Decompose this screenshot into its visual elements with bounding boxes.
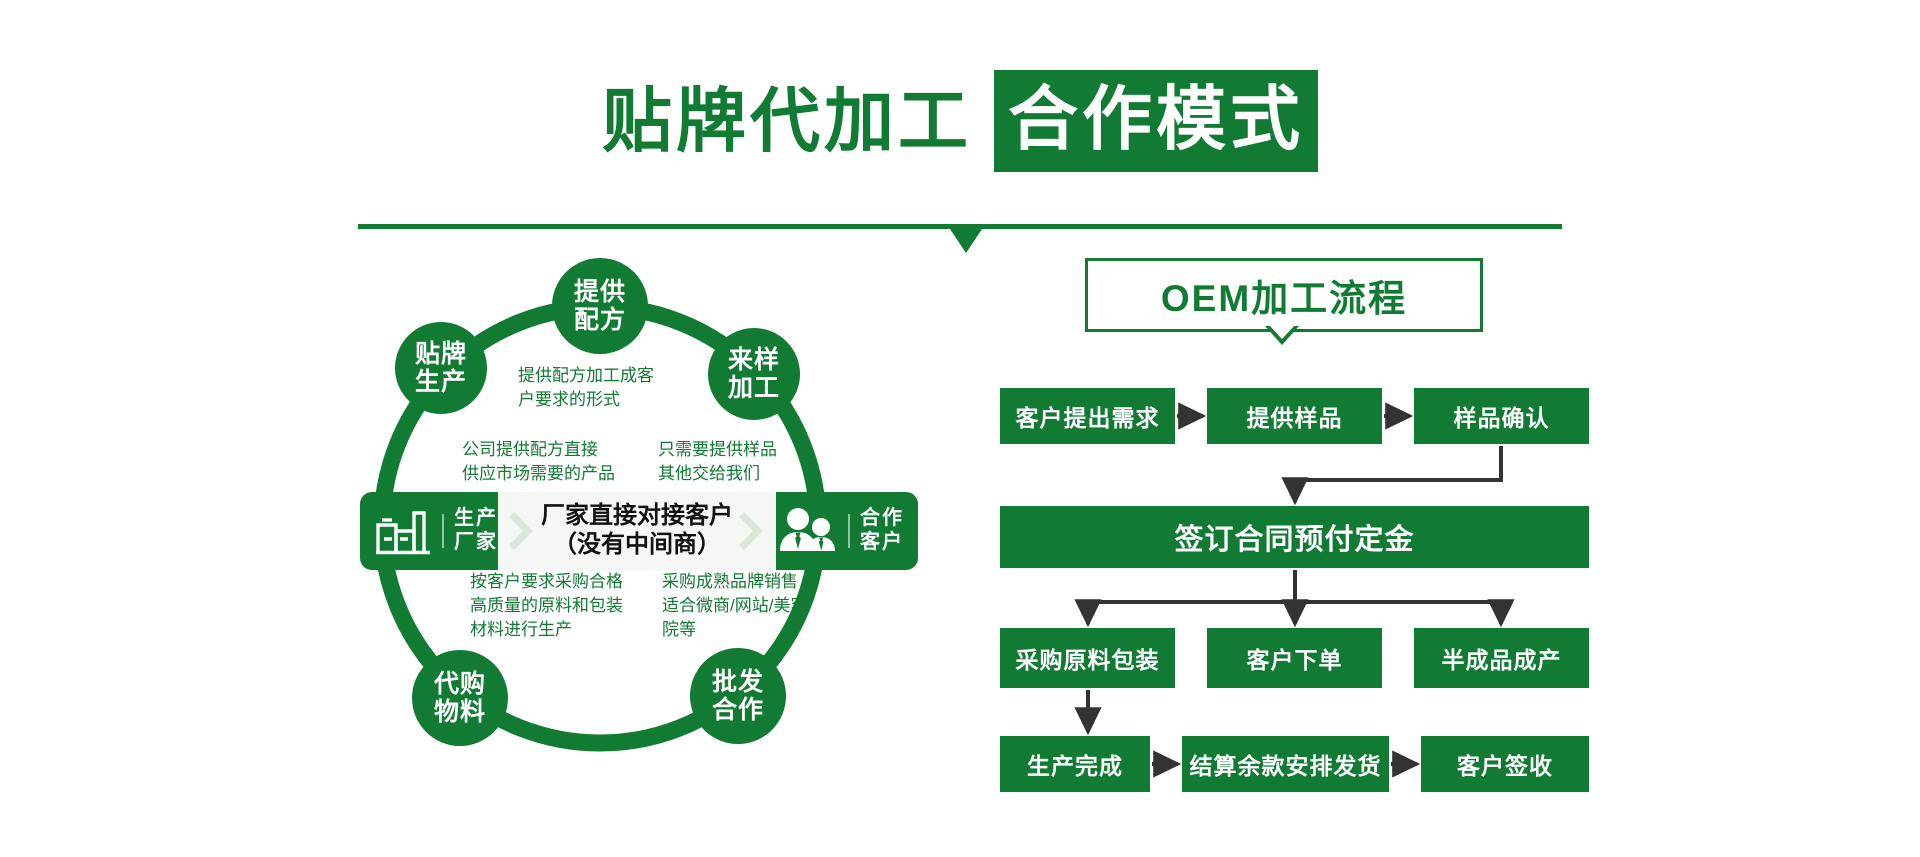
cycle-desc-daigou-wuliao: 按客户要求采购合格 高质量的原料和包装 材料进行生产 [470, 570, 623, 642]
title-main-text: 贴牌代加工 [602, 78, 972, 164]
cycle-node-daigou-wuliao[interactable]: 代购 物料 [412, 650, 508, 746]
node-line-2: 加工 [728, 374, 780, 402]
oem-flow-heading-text: OEM加工流程 [1161, 268, 1407, 322]
flow-step-semi-finished-production[interactable]: 半成品成产 [1414, 628, 1589, 688]
left-separator [442, 514, 444, 548]
flow-step-settle-balance-ship[interactable]: 结算余款安排发货 [1182, 736, 1389, 792]
cycle-node-tigong-peifang[interactable]: 提供 配方 [552, 258, 648, 354]
oem-flow-chart: OEM加工流程 [1000, 258, 1560, 818]
customer-label: 合作 客户 [860, 507, 904, 554]
producer-group: 生产 厂家 [360, 492, 498, 570]
infographic-root: 贴牌代加工 合作模式 贴牌 生产 提供 配方 来样 加工 代购 物料 批发 合作… [0, 0, 1920, 857]
flow-step-purchase-materials[interactable]: 采购原料包装 [1000, 628, 1175, 688]
header-divider-notch-icon [950, 229, 982, 253]
right-separator [848, 514, 850, 548]
cycle-desc-pifa-hezuo: 采购成熟品牌销售， 适合微商/网站/美容 院等 [662, 570, 815, 642]
node-line-2: 物料 [434, 698, 486, 726]
producer-label: 生产 厂家 [454, 507, 498, 554]
node-line-1: 批发 [712, 668, 764, 696]
flow-step-sign-contract-deposit[interactable]: 签订合同预付定金 [1000, 506, 1589, 568]
cycle-desc-tigong-peifang: 提供配方加工成客 户要求的形式 [518, 364, 654, 412]
cycle-node-tiepai-shengchan[interactable]: 贴牌 生产 [395, 322, 487, 414]
node-line-2: 配方 [574, 306, 626, 334]
direct-connection-callout: 厂家直接对接客户 （没有中间商） [498, 492, 776, 570]
direct-connection-bar: 生产 厂家 厂家直接对接客户 （没有中间商） [360, 492, 918, 570]
cycle-node-laiyang-jiagong[interactable]: 来样 加工 [708, 328, 800, 420]
oem-heading-notch-inner-icon [1268, 324, 1296, 339]
flow-step-customer-receipt[interactable]: 客户签收 [1421, 736, 1589, 792]
chevron-right-icon [509, 511, 535, 551]
oem-flow-heading-box: OEM加工流程 [1085, 258, 1483, 332]
node-line-1: 来样 [728, 346, 780, 374]
direct-connection-text: 厂家直接对接客户 （没有中间商） [541, 502, 733, 560]
flow-step-provide-sample[interactable]: 提供样品 [1207, 388, 1382, 444]
node-line-1: 贴牌 [415, 340, 467, 368]
flow-step-customer-order[interactable]: 客户下单 [1207, 628, 1382, 688]
flow-step-sample-confirm[interactable]: 样品确认 [1414, 388, 1589, 444]
node-line-2: 生产 [415, 368, 467, 396]
page-title: 贴牌代加工 合作模式 [0, 78, 1920, 164]
node-line-1: 提供 [574, 278, 626, 306]
cycle-desc-tiepai-shengchan: 公司提供配方直接 供应市场需要的产品 [462, 438, 615, 486]
chevron-right-icon [739, 511, 765, 551]
cycle-node-pifa-hezuo[interactable]: 批发 合作 [690, 648, 786, 744]
customers-icon [776, 507, 838, 555]
flow-step-production-complete[interactable]: 生产完成 [1000, 736, 1150, 792]
node-line-2: 合作 [712, 696, 764, 724]
factory-icon [374, 507, 432, 555]
cycle-desc-laiyang-jiagong: 只需要提供样品 其他交给我们 [658, 438, 777, 486]
flow-step-customer-request[interactable]: 客户提出需求 [1000, 388, 1175, 444]
customer-group: 合作 客户 [776, 492, 918, 570]
node-line-1: 代购 [434, 670, 486, 698]
title-highlight-text: 合作模式 [994, 70, 1318, 172]
